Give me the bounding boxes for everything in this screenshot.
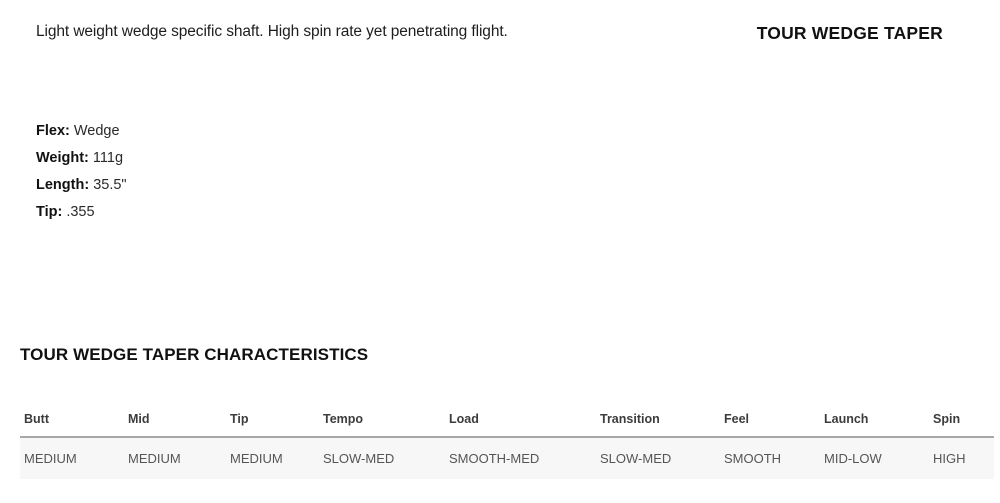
- column-header-transition: Transition: [596, 412, 720, 437]
- column-header-launch: Launch: [820, 412, 929, 437]
- table-header-row: Butt Mid Tip Tempo Load Transition Feel …: [20, 412, 994, 437]
- spec-row-length: Length: 35.5": [36, 172, 356, 199]
- spec-value-weight: 111g: [93, 150, 123, 166]
- spec-label-weight: Weight:: [36, 150, 89, 166]
- column-header-spin: Spin: [929, 412, 994, 437]
- spec-row-flex: Flex: Wedge: [36, 118, 356, 145]
- cell-butt: MEDIUM: [20, 437, 124, 479]
- cell-spin: HIGH: [929, 437, 994, 479]
- spec-list: Flex: Wedge Weight: 111g Length: 35.5" T…: [36, 118, 356, 226]
- header-band: Light weight wedge specific shaft. High …: [0, 0, 1000, 60]
- spec-label-flex: Flex:: [36, 123, 70, 139]
- characteristics-heading: TOUR WEDGE TAPER CHARACTERISTICS: [20, 345, 368, 365]
- column-header-butt: Butt: [20, 412, 124, 437]
- spec-row-tip: Tip: .355: [36, 199, 356, 226]
- spec-row-weight: Weight: 111g: [36, 145, 356, 172]
- spec-value-tip: .355: [66, 204, 94, 220]
- cell-load: SMOOTH-MED: [445, 437, 596, 479]
- column-header-load: Load: [445, 412, 596, 437]
- column-header-mid: Mid: [124, 412, 226, 437]
- spec-label-tip: Tip:: [36, 204, 62, 220]
- cell-feel: SMOOTH: [720, 437, 820, 479]
- spec-value-flex: Wedge: [74, 123, 120, 139]
- product-description: Light weight wedge specific shaft. High …: [36, 22, 508, 42]
- column-header-feel: Feel: [720, 412, 820, 437]
- product-title: TOUR WEDGE TAPER: [757, 23, 943, 44]
- spec-value-length: 35.5": [93, 177, 126, 193]
- cell-transition: SLOW-MED: [596, 437, 720, 479]
- column-header-tempo: Tempo: [319, 412, 445, 437]
- cell-tempo: SLOW-MED: [319, 437, 445, 479]
- cell-tip: MEDIUM: [226, 437, 319, 479]
- cell-launch: MID-LOW: [820, 437, 929, 479]
- spec-label-length: Length:: [36, 177, 89, 193]
- column-header-tip: Tip: [226, 412, 319, 437]
- cell-mid: MEDIUM: [124, 437, 226, 479]
- characteristics-table: Butt Mid Tip Tempo Load Transition Feel …: [20, 412, 958, 479]
- table-row: MEDIUM MEDIUM MEDIUM SLOW-MED SMOOTH-MED…: [20, 437, 994, 479]
